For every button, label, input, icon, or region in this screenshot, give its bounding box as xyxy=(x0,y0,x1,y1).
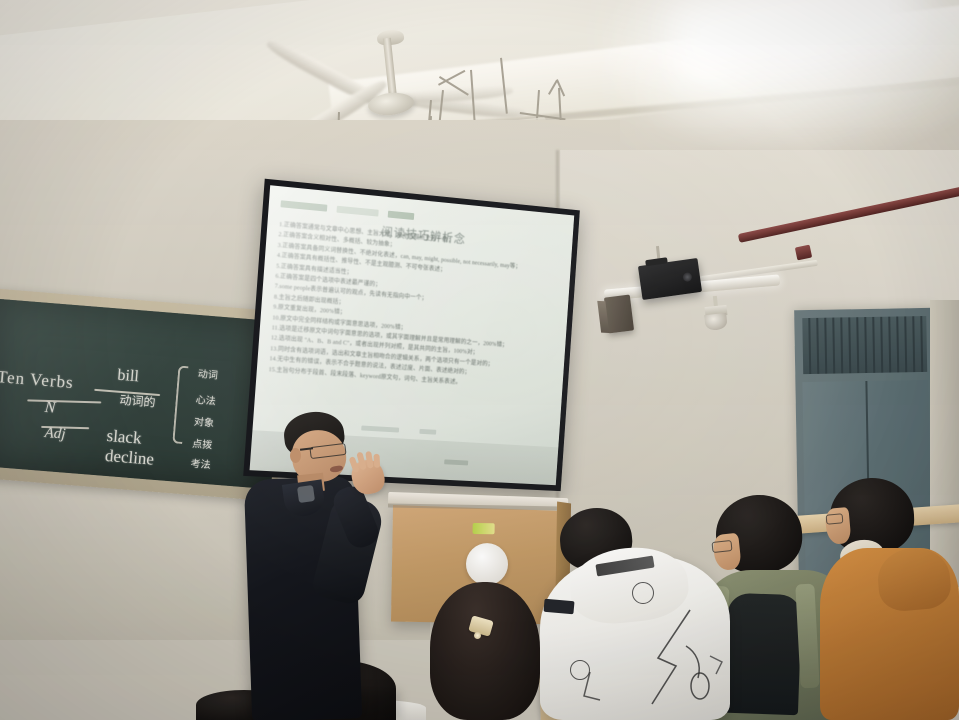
eyeglasses-icon xyxy=(826,513,844,524)
jacket-print-circle xyxy=(632,582,654,604)
slide-tab xyxy=(280,200,327,211)
jacket-panel xyxy=(724,593,802,716)
jacket-print-circle xyxy=(570,660,590,680)
jacket-print-tab xyxy=(543,599,574,615)
chalk-fraction-numerator: bill xyxy=(117,367,140,387)
slide-tab xyxy=(336,206,378,217)
lectern-emblem xyxy=(466,543,509,586)
chalk-annotation: 对象 xyxy=(194,413,215,430)
door-transom-window xyxy=(802,316,927,374)
chalk-pos-adj: Adj xyxy=(44,425,66,444)
slide-tab xyxy=(388,211,415,220)
chalk-word-slack: slack xyxy=(106,426,142,449)
slide-chip xyxy=(419,429,436,435)
shirt-collar xyxy=(297,485,315,503)
slide-body: 1.正确答案通常与文章中心思想、主旨大意、常考的观点主旨一致； 2.正确答案含义… xyxy=(268,220,561,394)
speaker-icon xyxy=(604,295,634,334)
chalk-pos-noun: N xyxy=(44,399,56,418)
lectern-sticker xyxy=(473,523,495,534)
student-head xyxy=(430,582,540,720)
chalk-annotation: 点拨 xyxy=(192,435,213,452)
hair-clip-bead xyxy=(474,632,481,639)
chalk-annotation: 考法 xyxy=(190,455,211,472)
eyeglasses-icon xyxy=(711,540,732,553)
classroom-photo: Ten Verbs N Adj bill 动词的 slack decline 动… xyxy=(0,0,959,720)
teacher xyxy=(236,412,401,720)
chalk-fraction-denominator: 动词的 xyxy=(119,391,156,411)
projector-lens-icon xyxy=(682,272,692,282)
chalk-word-decline: decline xyxy=(104,446,155,470)
chalk-annotation: 动词 xyxy=(197,365,218,382)
chalk-annotation: 心法 xyxy=(195,391,216,408)
